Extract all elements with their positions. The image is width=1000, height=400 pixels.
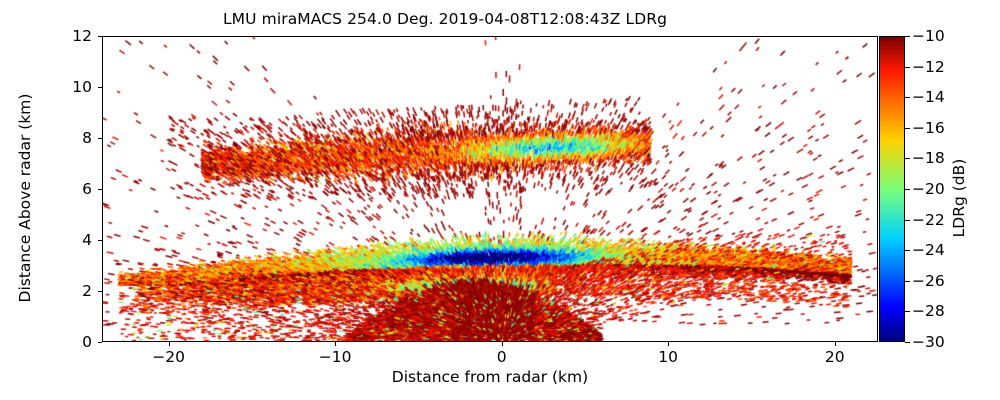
y-axis-label: Distance Above radar (km) — [16, 45, 34, 351]
y-tick — [98, 240, 102, 241]
x-tick — [169, 342, 170, 346]
x-tick-label: 0 — [497, 348, 507, 366]
colorbar — [879, 36, 905, 342]
colorbar-tick — [905, 281, 910, 282]
colorbar-tick — [905, 342, 910, 343]
x-tick-label: −20 — [152, 348, 185, 366]
colorbar-tick — [905, 311, 910, 312]
colorbar-tick-label: −14 — [912, 88, 945, 106]
y-tick — [98, 138, 102, 139]
y-tick — [98, 291, 102, 292]
colorbar-tick-label: −12 — [912, 58, 945, 76]
colorbar-tick — [905, 67, 910, 68]
y-tick — [98, 189, 102, 190]
page-title: LMU miraMACS 254.0 Deg. 2019-04-08T12:08… — [0, 10, 890, 28]
colorbar-tick — [905, 189, 910, 190]
y-tick-label: 2 — [0, 282, 92, 300]
colorbar-tick-label: −18 — [912, 149, 945, 167]
y-tick — [98, 36, 102, 37]
colorbar-tick — [905, 128, 910, 129]
colorbar-tick-label: −30 — [912, 333, 945, 351]
colorbar-tick-label: −26 — [912, 272, 945, 290]
x-tick — [335, 342, 336, 346]
x-axis-label: Distance from radar (km) — [102, 368, 878, 386]
colorbar-tick — [905, 36, 910, 37]
colorbar-tick — [905, 158, 910, 159]
x-tick — [502, 342, 503, 346]
y-tick-label: 4 — [0, 231, 92, 249]
colorbar-tick — [905, 250, 910, 251]
colorbar-tick-label: −10 — [912, 27, 945, 45]
x-tick — [668, 342, 669, 346]
radar-data-canvas — [103, 37, 877, 341]
y-tick — [98, 342, 102, 343]
colorbar-gradient — [880, 37, 904, 341]
colorbar-tick — [905, 220, 910, 221]
y-tick-label: 6 — [0, 180, 92, 198]
radar-rhi-figure: LMU miraMACS 254.0 Deg. 2019-04-08T12:08… — [0, 0, 1000, 400]
colorbar-tick-label: −28 — [912, 302, 945, 320]
plot-axes — [102, 36, 878, 342]
x-tick-label: −10 — [319, 348, 352, 366]
y-tick-label: 12 — [0, 27, 92, 45]
colorbar-label: LDRg (dB) — [950, 45, 968, 351]
colorbar-tick-label: −16 — [912, 119, 945, 137]
colorbar-tick-label: −24 — [912, 241, 945, 259]
y-tick-label: 8 — [0, 129, 92, 147]
y-tick — [98, 87, 102, 88]
x-tick-label: 10 — [658, 348, 678, 366]
colorbar-tick — [905, 97, 910, 98]
x-tick — [835, 342, 836, 346]
colorbar-tick-label: −22 — [912, 211, 945, 229]
x-tick-label: 20 — [825, 348, 845, 366]
y-tick-label: 0 — [0, 333, 92, 351]
y-tick-label: 10 — [0, 78, 92, 96]
colorbar-tick-label: −20 — [912, 180, 945, 198]
